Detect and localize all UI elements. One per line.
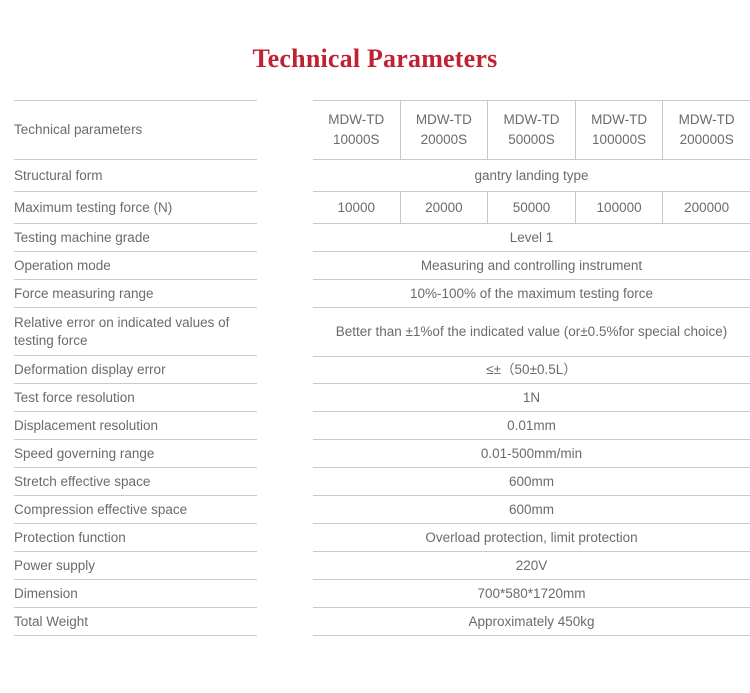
row-label-cell: Compression effective space (0, 496, 300, 524)
model-family: MDW-TD (679, 110, 735, 130)
row-value: Better than ±1%of the indicated value (o… (313, 308, 750, 356)
model-family: MDW-TD (328, 110, 384, 130)
table-row: Displacement resolution 0.01mm (0, 412, 750, 440)
row-label-cell: Displacement resolution (0, 412, 300, 440)
row-label: Relative error on indicated values of te… (14, 308, 257, 356)
row-label-cell: Stretch effective space (0, 468, 300, 496)
model-family: MDW-TD (503, 110, 559, 130)
row-label-cell: Maximum testing force (N) (0, 192, 300, 224)
header-label-cell: Technical parameters (0, 100, 300, 160)
row-value-cell: gantry landing type (300, 160, 750, 192)
row-label: Maximum testing force (N) (14, 192, 257, 224)
row-value-cell: Better than ±1%of the indicated value (o… (300, 308, 750, 356)
row-value: 600mm (313, 496, 750, 524)
row-label: Operation mode (14, 252, 257, 280)
model-code: 200000S (680, 130, 734, 150)
row-value: 0.01-500mm/min (313, 440, 750, 468)
model-code: 10000S (333, 130, 380, 150)
model-code: 50000S (508, 130, 555, 150)
row-label-cell: Total Weight (0, 608, 300, 636)
row-value-cell: 600mm (300, 468, 750, 496)
technical-parameters-table: Technical parameters MDW-TD 10000S MDW-T… (0, 100, 750, 636)
header-models-cell: MDW-TD 10000S MDW-TD 20000S MDW-TD 50000… (300, 100, 750, 160)
table-row: Structural form gantry landing type (0, 160, 750, 192)
table-row: Dimension 700*580*1720mm (0, 580, 750, 608)
row-label: Force measuring range (14, 280, 257, 308)
row-value: 600mm (313, 468, 750, 496)
row-label-cell: Power supply (0, 552, 300, 580)
row-label-cell: Structural form (0, 160, 300, 192)
table-row: Relative error on indicated values of te… (0, 308, 750, 356)
row-label: Test force resolution (14, 384, 257, 412)
model-columns: MDW-TD 10000S MDW-TD 20000S MDW-TD 50000… (313, 100, 750, 160)
row-value-cell: 10%-100% of the maximum testing force (300, 280, 750, 308)
row-label: Displacement resolution (14, 412, 257, 440)
row-label-cell: Protection function (0, 524, 300, 552)
row-label: Speed governing range (14, 440, 257, 468)
model-code: 100000S (592, 130, 646, 150)
row-label: Protection function (14, 524, 257, 552)
row-label: Testing machine grade (14, 224, 257, 252)
table-row: Stretch effective space 600mm (0, 468, 750, 496)
row-label: Total Weight (14, 608, 257, 636)
model-column-4: MDW-TD 100000S (576, 101, 664, 159)
row-label-cell: Testing machine grade (0, 224, 300, 252)
row-value-cell: 0.01-500mm/min (300, 440, 750, 468)
table-row: Operation mode Measuring and controlling… (0, 252, 750, 280)
row-value: 1N (313, 384, 750, 412)
row-value-cell: Measuring and controlling instrument (300, 252, 750, 280)
row-label-cell: Dimension (0, 580, 300, 608)
table-row: Compression effective space 600mm (0, 496, 750, 524)
row-label: Compression effective space (14, 496, 257, 524)
model-family: MDW-TD (591, 110, 647, 130)
row-value: 0.01mm (313, 412, 750, 440)
row-value-cell: 220V (300, 552, 750, 580)
table-row: Deformation display error ≤±（50±0.5L） (0, 356, 750, 384)
row-label-cell: Speed governing range (0, 440, 300, 468)
row-label: Stretch effective space (14, 468, 257, 496)
max-force-value-4: 100000 (576, 192, 664, 223)
row-value: ≤±（50±0.5L） (313, 356, 750, 384)
max-force-value-5: 200000 (663, 192, 750, 223)
row-label: Deformation display error (14, 356, 257, 384)
row-label: Dimension (14, 580, 257, 608)
row-value-cell: 10000 20000 50000 100000 200000 (300, 192, 750, 224)
row-value: 700*580*1720mm (313, 580, 750, 608)
row-value: Level 1 (313, 224, 750, 252)
model-code: 20000S (421, 130, 468, 150)
row-label: Power supply (14, 552, 257, 580)
max-force-value-3: 50000 (488, 192, 576, 223)
row-label: Structural form (14, 160, 257, 192)
row-value-cell: 1N (300, 384, 750, 412)
row-value: 10%-100% of the maximum testing force (313, 280, 750, 308)
row-value-cell: 700*580*1720mm (300, 580, 750, 608)
max-force-value-2: 20000 (401, 192, 489, 223)
max-force-value-1: 10000 (313, 192, 401, 223)
model-column-5: MDW-TD 200000S (663, 101, 750, 159)
row-value-cell: 0.01mm (300, 412, 750, 440)
table-row: Maximum testing force (N) 10000 20000 50… (0, 192, 750, 224)
max-force-columns: 10000 20000 50000 100000 200000 (313, 192, 750, 224)
table-row: Test force resolution 1N (0, 384, 750, 412)
model-column-1: MDW-TD 10000S (313, 101, 401, 159)
table-header-row: Technical parameters MDW-TD 10000S MDW-T… (0, 100, 750, 160)
row-value-cell: Overload protection, limit protection (300, 524, 750, 552)
row-value: 220V (313, 552, 750, 580)
row-value: Approximately 450kg (313, 608, 750, 636)
table-row: Testing machine grade Level 1 (0, 224, 750, 252)
row-value: Overload protection, limit protection (313, 524, 750, 552)
model-family: MDW-TD (416, 110, 472, 130)
table-row: Force measuring range 10%-100% of the ma… (0, 280, 750, 308)
row-value-cell: ≤±（50±0.5L） (300, 356, 750, 384)
model-column-2: MDW-TD 20000S (401, 101, 489, 159)
row-value: Measuring and controlling instrument (313, 252, 750, 280)
row-value-cell: 600mm (300, 496, 750, 524)
row-label-cell: Operation mode (0, 252, 300, 280)
table-row: Power supply 220V (0, 552, 750, 580)
row-label-cell: Deformation display error (0, 356, 300, 384)
table-row: Speed governing range 0.01-500mm/min (0, 440, 750, 468)
row-label-cell: Test force resolution (0, 384, 300, 412)
model-column-3: MDW-TD 50000S (488, 101, 576, 159)
page-title: Technical Parameters (0, 44, 750, 74)
row-value: gantry landing type (313, 160, 750, 192)
row-value-cell: Approximately 450kg (300, 608, 750, 636)
row-label-cell: Relative error on indicated values of te… (0, 308, 300, 356)
table-row: Total Weight Approximately 450kg (0, 608, 750, 636)
header-label: Technical parameters (14, 100, 257, 160)
row-label-cell: Force measuring range (0, 280, 300, 308)
row-value-cell: Level 1 (300, 224, 750, 252)
table-row: Protection function Overload protection,… (0, 524, 750, 552)
